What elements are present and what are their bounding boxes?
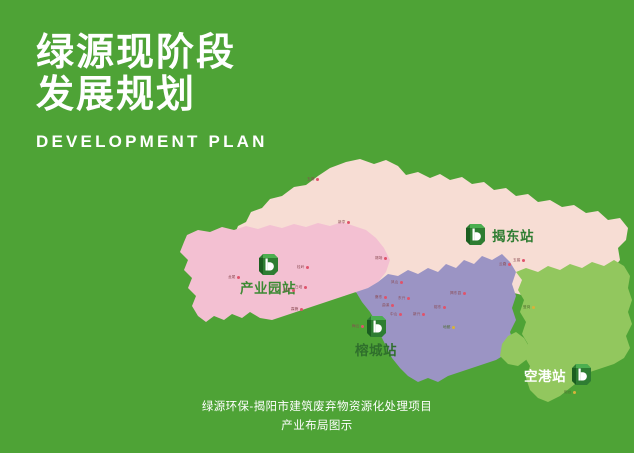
title-line-2: 发展规划 (36, 74, 376, 116)
station-label-konggang: 空港站 (524, 365, 566, 385)
station-label-rongcheng: 榕城站 (355, 339, 397, 359)
caption-line-1: 绿源环保-揭阳市建筑废弃物资源化处理项目 (0, 398, 634, 417)
station-marker-jiedong[interactable]: 揭东站 (466, 224, 534, 245)
title-block: 绿源现阶段 发展规划 DEVELOPMENT PLAN (36, 32, 376, 152)
caption-line-2: 产业布局图示 (0, 417, 634, 436)
green-cube-logo-icon (367, 316, 386, 337)
title-line-1: 绿源现阶段 (36, 32, 376, 74)
green-cube-logo-icon (259, 254, 278, 275)
station-label-chanyeyuan: 产业园站 (240, 277, 296, 297)
development-plan-poster: 绿源现阶段 发展规划 DEVELOPMENT PLAN (0, 0, 634, 453)
station-marker-konggang[interactable]: 空港站 (524, 364, 591, 385)
station-marker-rongcheng[interactable]: 榕城站 (355, 316, 397, 359)
station-marker-chanyeyuan[interactable]: 产业园站 (240, 254, 296, 297)
green-cube-logo-icon (466, 224, 485, 245)
station-label-jiedong: 揭东站 (492, 225, 534, 245)
subtitle-development-plan: DEVELOPMENT PLAN (36, 132, 376, 152)
green-cube-logo-icon (572, 364, 591, 385)
poster-caption: 绿源环保-揭阳市建筑废弃物资源化处理项目 产业布局图示 (0, 398, 634, 436)
